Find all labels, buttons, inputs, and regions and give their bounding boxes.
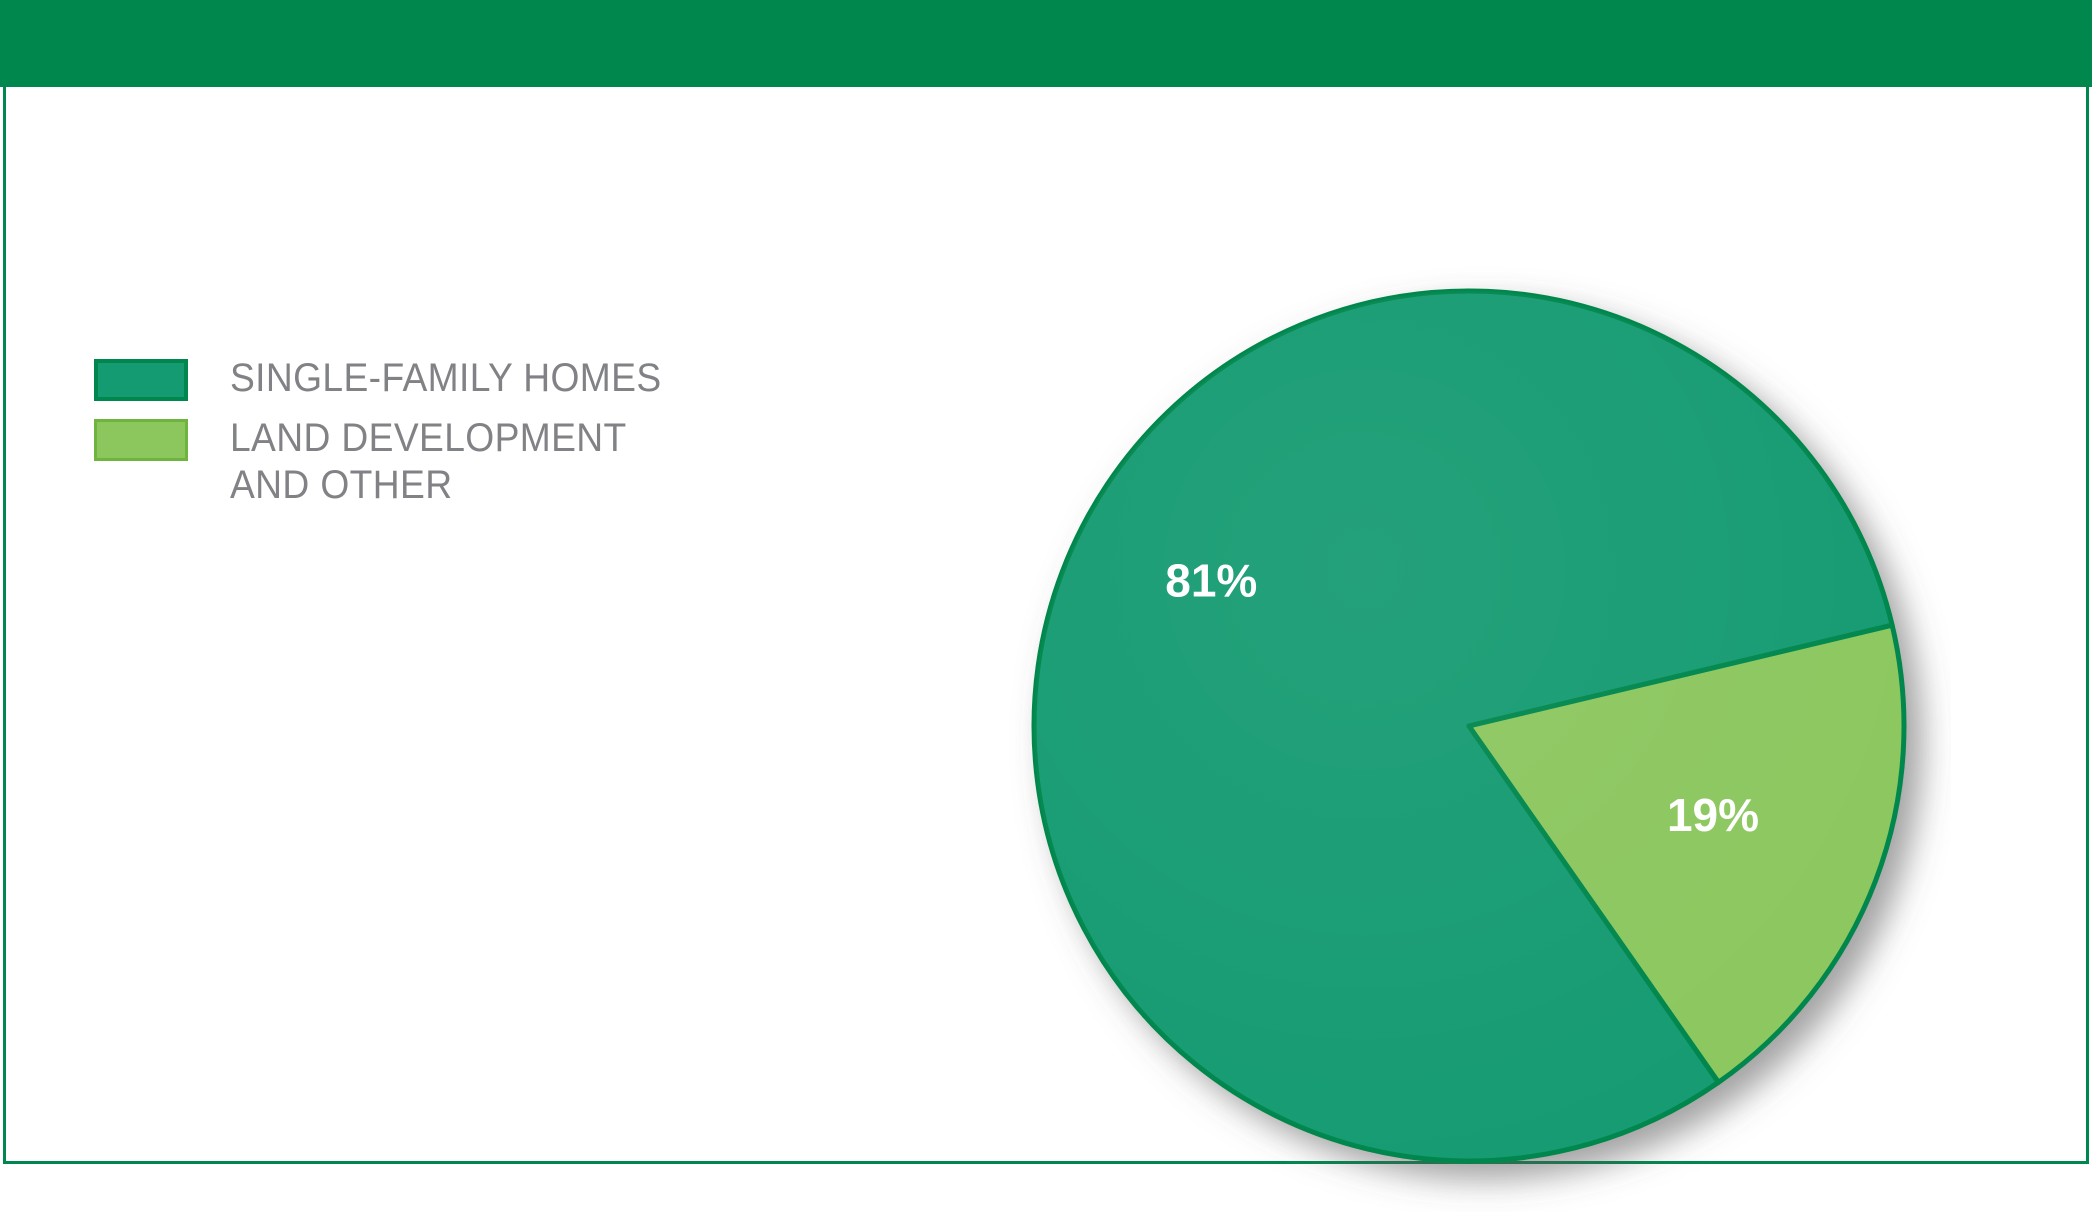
- pie-chart: 81% 19%: [991, 252, 1951, 1212]
- pie-sheen-overlay: [1034, 291, 1904, 1161]
- pie-slice-label-single-family-homes: 81%: [1165, 555, 1257, 607]
- legend-item-land-development-and-other[interactable]: LAND DEVELOPMENT AND OTHER: [94, 419, 814, 508]
- chart-legend: SINGLE-FAMILY HOMES LAND DEVELOPMENT AND…: [94, 359, 814, 526]
- slide-canvas: SINGLE-FAMILY HOMES LAND DEVELOPMENT AND…: [0, 0, 2092, 1170]
- legend-swatch-icon-land-development-and-other: [94, 419, 188, 461]
- content-panel: SINGLE-FAMILY HOMES LAND DEVELOPMENT AND…: [3, 87, 2089, 1164]
- legend-label-land-development-and-other: LAND DEVELOPMENT AND OTHER: [230, 415, 627, 508]
- legend-swatch-icon-single-family-homes: [94, 359, 188, 401]
- pie-chart-svg: 81% 19%: [991, 252, 1951, 1212]
- legend-label-single-family-homes: SINGLE-FAMILY HOMES: [230, 355, 662, 401]
- legend-item-single-family-homes[interactable]: SINGLE-FAMILY HOMES: [94, 359, 814, 401]
- pie-slice-label-land-development-and-other: 19%: [1667, 789, 1759, 841]
- top-green-banner: [0, 0, 2092, 87]
